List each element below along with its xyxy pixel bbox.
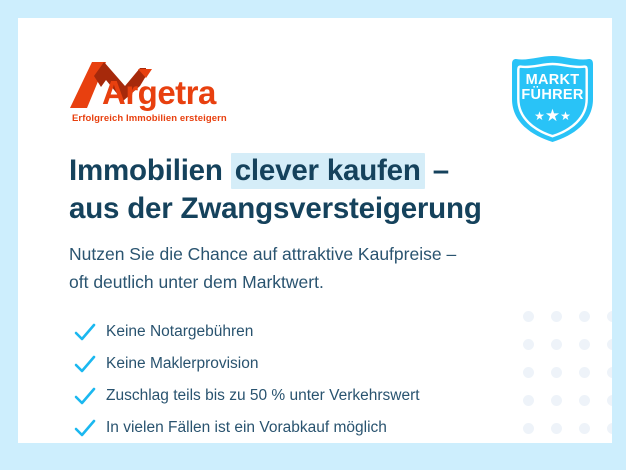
decorative-dot <box>579 395 590 406</box>
check-icon <box>73 385 97 407</box>
logo-tagline: Erfolgreich Immobilien ersteigern <box>72 113 227 124</box>
decorative-dot <box>551 367 562 378</box>
logo-wordmark: Argetra <box>102 76 216 109</box>
decorative-dot <box>607 367 612 378</box>
benefits-list: Keine Notargebühren Keine Maklerprovisio… <box>73 316 543 443</box>
list-item-label: Keine Maklerprovision <box>106 356 259 372</box>
market-leader-badge: MARKT FÜHRER ★★★ <box>505 55 600 143</box>
headline-text-before: Immobilien <box>69 154 231 187</box>
argetra-logo[interactable]: Argetra Erfolgreich Immobilien ersteiger… <box>70 60 230 130</box>
check-icon <box>73 353 97 375</box>
headline-line-2: aus der Zwangsversteigerung <box>69 190 589 228</box>
subtitle-line-2: oft deutlich unter dem Marktwert. <box>69 268 589 296</box>
page-title: Immobilien clever kaufen – aus der Zwang… <box>69 152 589 228</box>
list-item: In vielen Fällen ist ein Vorabkauf mögli… <box>73 412 543 443</box>
decorative-dot <box>551 395 562 406</box>
check-icon <box>73 417 97 439</box>
decorative-dot <box>579 339 590 350</box>
decorative-dot <box>551 311 562 322</box>
subtitle-line-1: Nutzen Sie die Chance auf attraktive Kau… <box>69 240 589 268</box>
list-item: Keine Maklerprovision <box>73 348 543 380</box>
list-item: Zuschlag teils bis zu 50 % unter Verkehr… <box>73 380 543 412</box>
decorative-dot <box>579 367 590 378</box>
decorative-dot <box>579 311 590 322</box>
page-subtitle: Nutzen Sie die Chance auf attraktive Kau… <box>69 240 589 296</box>
decorative-dot <box>551 339 562 350</box>
decorative-dot <box>551 423 562 434</box>
headline-text-after: – <box>425 154 449 187</box>
list-item-label: In vielen Fällen ist ein Vorabkauf mögli… <box>106 420 387 436</box>
promo-banner: Argetra Erfolgreich Immobilien ersteiger… <box>0 0 626 470</box>
headline-line-1: Immobilien clever kaufen – <box>69 152 589 190</box>
list-item: Keine Notargebühren <box>73 316 543 348</box>
decorative-dot <box>579 423 590 434</box>
list-item-label: Zuschlag teils bis zu 50 % unter Verkehr… <box>106 388 420 404</box>
headline-highlight: clever kaufen <box>231 153 425 189</box>
decorative-dot <box>607 395 612 406</box>
decorative-dot <box>607 311 612 322</box>
decorative-dot <box>607 423 612 434</box>
shield-badge-icon <box>505 55 600 143</box>
promo-card: Argetra Erfolgreich Immobilien ersteiger… <box>18 18 612 443</box>
check-icon <box>73 321 97 343</box>
decorative-dot <box>607 339 612 350</box>
list-item-label: Keine Notargebühren <box>106 324 253 340</box>
